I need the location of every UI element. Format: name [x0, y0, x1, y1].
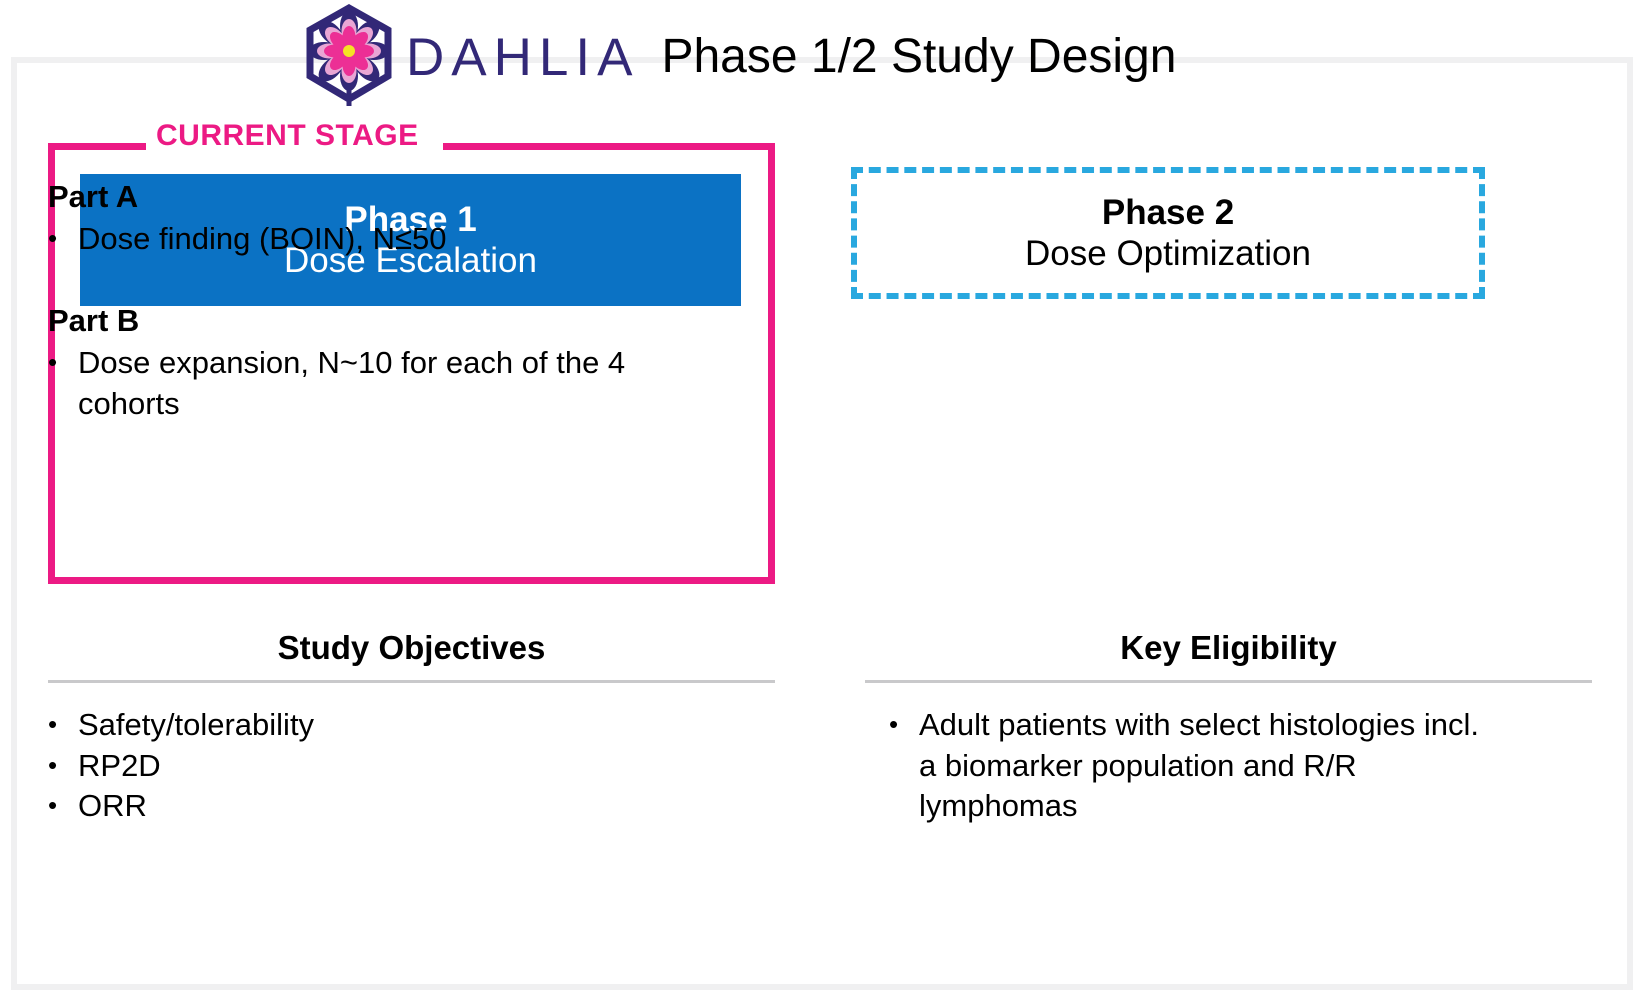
current-stage-label: CURRENT STAGE	[156, 121, 419, 151]
phase-2-title: Phase 2	[1102, 192, 1234, 233]
study-objectives-section: Study Objectives • Safety/tolerability •…	[48, 628, 775, 827]
list-item: • RP2D	[48, 746, 775, 787]
part-a-bullet-text: Dose finding (BOIN), N≤50	[78, 219, 688, 260]
page-title: Phase 1/2 Study Design	[661, 33, 1176, 81]
bullet-icon: •	[889, 705, 919, 744]
current-stage-border-top-left	[48, 143, 146, 150]
part-a-bullet: • Dose finding (BOIN), N≤50	[48, 219, 688, 260]
bullet-icon: •	[48, 746, 78, 785]
key-eligibility-list: • Adult patients with select histologies…	[889, 705, 1592, 828]
dahlia-flower-hexagon-logo-icon	[300, 4, 398, 108]
slide-header: DAHLIA Phase 1/2 Study Design	[300, 4, 1176, 108]
bullet-icon: •	[48, 219, 78, 258]
part-a-heading: Part A	[48, 178, 688, 215]
bullet-icon: •	[48, 705, 78, 744]
current-stage-border-bottom	[48, 577, 775, 584]
phase-2-subtitle: Dose Optimization	[1025, 233, 1311, 274]
slide-canvas: DAHLIA Phase 1/2 Study Design CURRENT ST…	[0, 0, 1647, 1007]
bullet-icon: •	[48, 786, 78, 825]
list-item: • ORR	[48, 786, 775, 827]
key-eligibility-text: Adult patients with select histologies i…	[919, 705, 1479, 828]
key-eligibility-section: Key Eligibility • Adult patients with se…	[865, 628, 1592, 827]
phase-1-parts-list: Part A • Dose finding (BOIN), N≤50 Part …	[48, 178, 688, 425]
list-item: • Adult patients with select histologies…	[889, 705, 1592, 828]
phase-2-box: Phase 2 Dose Optimization	[851, 167, 1485, 299]
study-objectives-heading: Study Objectives	[48, 628, 775, 668]
part-b-bullet: • Dose expansion, N~10 for each of the 4…	[48, 343, 688, 425]
current-stage-border-top-right	[443, 143, 775, 150]
key-eligibility-heading: Key Eligibility	[865, 628, 1592, 668]
list-item: • Safety/tolerability	[48, 705, 775, 746]
study-objective-text: Safety/tolerability	[78, 705, 775, 746]
part-b-bullet-text: Dose expansion, N~10 for each of the 4 c…	[78, 343, 688, 425]
part-b-heading: Part B	[48, 302, 688, 339]
study-objectives-list: • Safety/tolerability • RP2D • ORR	[48, 705, 775, 828]
key-eligibility-divider	[865, 680, 1592, 683]
current-stage-border-right	[768, 143, 775, 584]
study-objective-text: RP2D	[78, 746, 775, 787]
bullet-icon: •	[48, 343, 78, 382]
study-objective-text: ORR	[78, 786, 775, 827]
study-objectives-divider	[48, 680, 775, 683]
dahlia-wordmark: DAHLIA	[406, 31, 639, 84]
